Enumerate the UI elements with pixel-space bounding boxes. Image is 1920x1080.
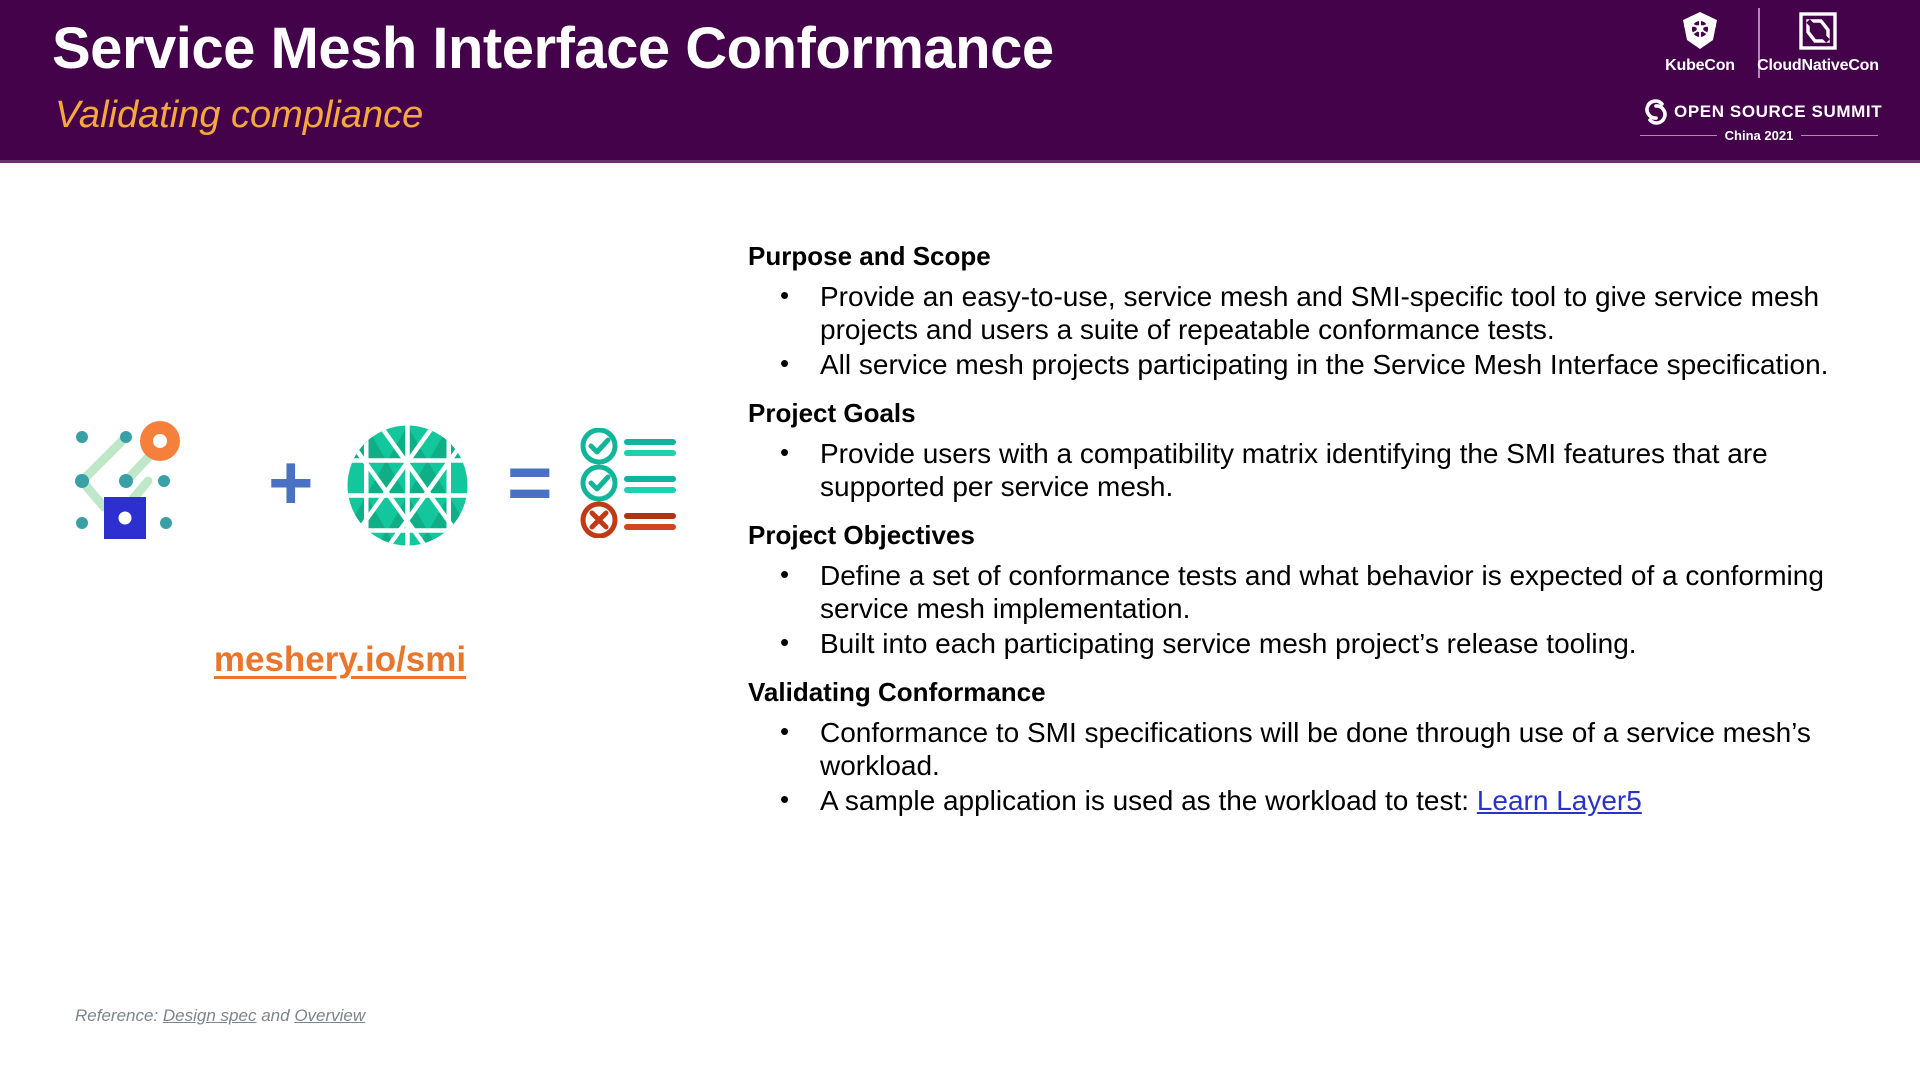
event-year-label: China 2021 [1725, 128, 1794, 143]
reference-prefix: Reference: [75, 1006, 158, 1025]
meshery-geodesic-logo [345, 423, 470, 548]
slide: Service Mesh Interface Conformance Valid… [0, 0, 1920, 1080]
result-pass-row-1 [583, 430, 676, 462]
bullet-list: Define a set of conformance tests and wh… [748, 559, 1873, 660]
year-rule-left [1640, 135, 1717, 136]
open-source-summit-label: OPEN SOURCE SUMMIT [1674, 102, 1882, 122]
event-logo: KubeCon CloudNativeCon [1640, 8, 1878, 156]
plus-symbol: + [268, 443, 314, 521]
section-project-objectives: Project Objectives Define a set of confo… [748, 519, 1873, 660]
bullet-list: Provide users with a compatibility matri… [748, 437, 1873, 503]
conformance-equation-graphic: + [60, 415, 640, 550]
kubernetes-helm-icon [1678, 8, 1722, 54]
list-item-text: A sample application is used as the work… [820, 785, 1477, 816]
slide-header: Service Mesh Interface Conformance Valid… [0, 0, 1920, 163]
section-project-goals: Project Goals Provide users with a compa… [748, 397, 1873, 503]
content-column: Purpose and Scope Provide an easy-to-use… [748, 240, 1873, 827]
open-source-summit-s-icon [1640, 95, 1672, 129]
section-heading: Purpose and Scope [748, 240, 1873, 272]
meshery-smi-link[interactable]: meshery.io/smi [60, 640, 620, 680]
bullet-list: Provide an easy-to-use, service mesh and… [748, 280, 1873, 381]
equals-symbol: = [507, 443, 553, 521]
learn-layer5-link[interactable]: Learn Layer5 [1477, 785, 1642, 816]
kubecon-logo: KubeCon [1646, 8, 1754, 75]
result-pass-row-2 [583, 467, 676, 499]
page-subtitle: Validating compliance [55, 93, 423, 137]
overview-link[interactable]: Overview [294, 1006, 365, 1025]
cloudnativecon-label: CloudNativeCon [1757, 57, 1879, 75]
open-source-summit-row: OPEN SOURCE SUMMIT [1640, 94, 1878, 130]
reference-footer: Reference: Design spec and Overview [75, 1006, 365, 1026]
section-validating-conformance: Validating Conformance Conformance to SM… [748, 676, 1873, 817]
conformance-results-icon [578, 428, 683, 538]
event-logo-top-row: KubeCon CloudNativeCon [1640, 8, 1878, 96]
list-item: All service mesh projects participating … [748, 348, 1873, 381]
section-heading: Validating Conformance [748, 676, 1873, 708]
section-purpose-and-scope: Purpose and Scope Provide an easy-to-use… [748, 240, 1873, 381]
reference-conjunction: and [261, 1006, 289, 1025]
cloudnativecon-logo: CloudNativeCon [1764, 8, 1872, 75]
list-item: A sample application is used as the work… [748, 784, 1873, 817]
cncf-square-icon [1797, 8, 1839, 54]
service-mesh-interface-logo [60, 415, 190, 545]
list-item: Conformance to SMI specifications will b… [748, 716, 1873, 782]
section-heading: Project Goals [748, 397, 1873, 429]
design-spec-link[interactable]: Design spec [163, 1006, 257, 1025]
bullet-list: Conformance to SMI specifications will b… [748, 716, 1873, 817]
list-item: Built into each participating service me… [748, 627, 1873, 660]
section-heading: Project Objectives [748, 519, 1873, 551]
event-year-row: China 2021 [1640, 128, 1878, 143]
list-item: Provide an easy-to-use, service mesh and… [748, 280, 1873, 346]
kubecon-label: KubeCon [1665, 57, 1735, 75]
list-item: Provide users with a compatibility matri… [748, 437, 1873, 503]
year-rule-right [1801, 135, 1878, 136]
list-item: Define a set of conformance tests and wh… [748, 559, 1873, 625]
result-fail-row [583, 504, 676, 536]
page-title: Service Mesh Interface Conformance [52, 16, 1054, 82]
